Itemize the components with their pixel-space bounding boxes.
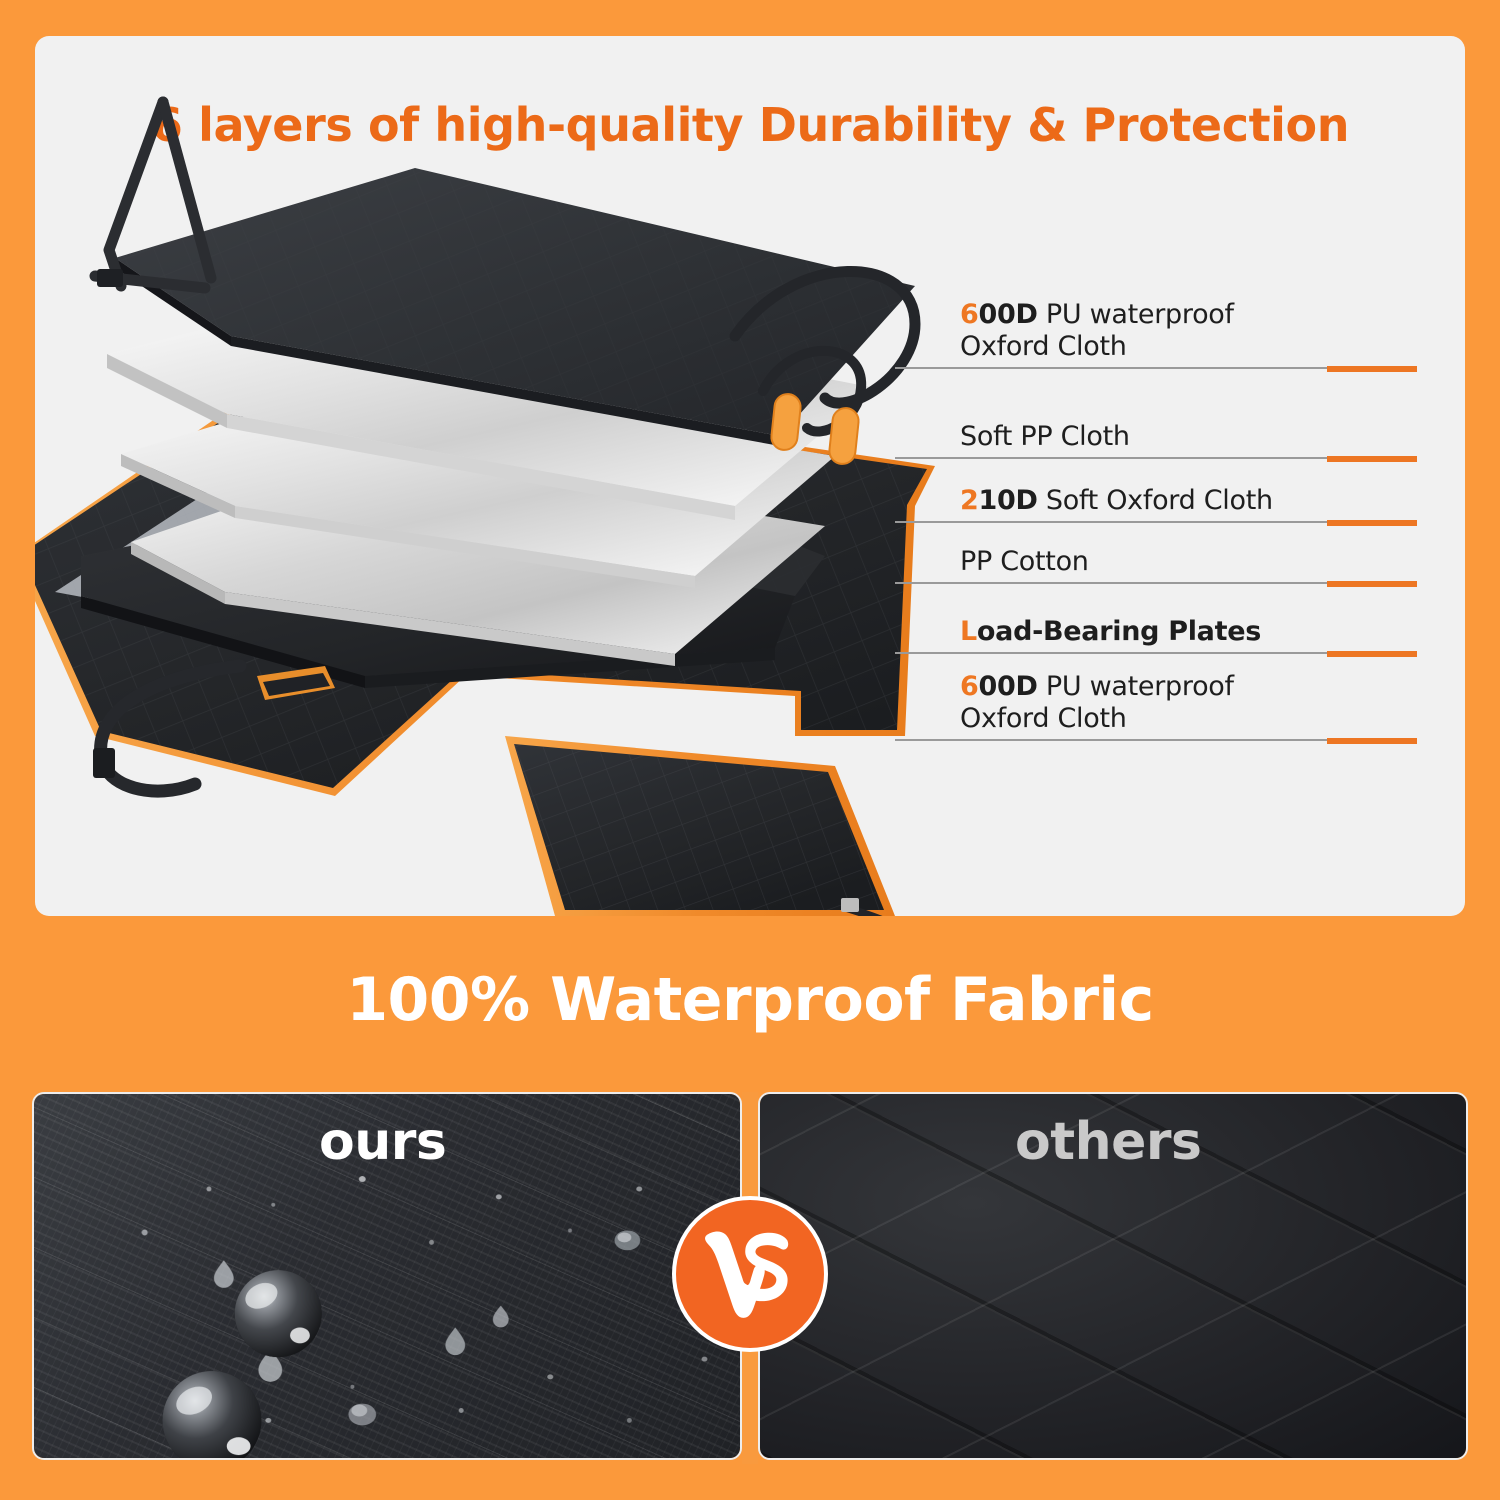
- callout-tail-4: oad-Bearing Plates: [977, 616, 1261, 647]
- callout-lead-0: 6: [960, 299, 979, 330]
- callout-rule-thin-4: [895, 652, 1335, 654]
- callout-lead-5: 6: [960, 671, 979, 702]
- banner-title: 100% Waterproof Fabric: [346, 965, 1153, 1035]
- callout-rule-2: [895, 520, 1455, 523]
- comparison-panel-others: others: [758, 1092, 1468, 1460]
- callout-line2-5: Oxford Cloth: [960, 703, 1127, 734]
- callout-rule-3: [895, 581, 1455, 584]
- strap-buckle-left: [93, 748, 115, 778]
- callout-rest-0: 00D: [979, 299, 1038, 330]
- callout-text-0: 600D PU waterproof Oxford Cloth: [960, 299, 1430, 363]
- callout-5: 600D PU waterproof Oxford Cloth: [895, 671, 1455, 741]
- vs-badge: [672, 1196, 828, 1352]
- callout-rule-4: [895, 651, 1455, 654]
- callout-text-5: 600D PU waterproof Oxford Cloth: [960, 671, 1430, 735]
- callout-rule-tip-4: [1327, 651, 1417, 657]
- callout-tail-5: PU waterproof: [1038, 671, 1234, 702]
- callout-rule-tip-2: [1327, 520, 1417, 526]
- callout-rule-thin-5: [895, 739, 1335, 741]
- callout-rule-0: [895, 366, 1455, 369]
- callout-tail-3: PP Cotton: [960, 546, 1089, 577]
- front-flap: [505, 736, 895, 916]
- others-label: others: [1015, 1112, 1201, 1172]
- callout-4: Load-Bearing Plates: [895, 608, 1455, 654]
- comparison-panel-ours: ours: [32, 1092, 742, 1460]
- callout-text-3: PP Cotton: [960, 546, 1430, 578]
- callout-rule-5: [895, 738, 1455, 741]
- callout-1: Soft PP Cloth: [895, 419, 1455, 459]
- vs-icon: [694, 1218, 806, 1330]
- callout-lead-2: 2: [960, 485, 979, 516]
- callout-rule-thin-1: [895, 457, 1335, 459]
- callout-text-1: Soft PP Cloth: [960, 421, 1430, 453]
- callout-tail-0: PU waterproof: [1038, 299, 1234, 330]
- hero-card: 6 layers of high-quality Durability & Pr…: [35, 36, 1465, 916]
- callout-rule-1: [895, 456, 1455, 459]
- infographic-page: 6 layers of high-quality Durability & Pr…: [0, 0, 1500, 1500]
- callout-rest-5: 00D: [979, 671, 1038, 702]
- large-droplet-1: [235, 1270, 322, 1357]
- large-droplet-2: [162, 1371, 261, 1458]
- callout-0: 600D PU waterproof Oxford Cloth: [895, 299, 1455, 369]
- callout-rule-tip-0: [1327, 366, 1417, 372]
- waterproof-banner: 100% Waterproof Fabric: [0, 930, 1500, 1070]
- callout-tail-1: Soft PP Cloth: [960, 421, 1130, 452]
- callout-2: 210D Soft Oxford Cloth: [895, 479, 1455, 523]
- callout-rule-thin-3: [895, 582, 1335, 584]
- callout-tail-2: Soft Oxford Cloth: [1038, 485, 1273, 516]
- callout-rule-thin-0: [895, 367, 1335, 369]
- strap-buckle-top: [97, 269, 123, 287]
- callout-text-2: 210D Soft Oxford Cloth: [960, 485, 1430, 517]
- callout-text-4: Load-Bearing Plates: [960, 616, 1430, 648]
- callout-rule-tip-5: [1327, 738, 1417, 744]
- callout-lead-4: L: [960, 616, 977, 647]
- callout-rule-tip-3: [1327, 581, 1417, 587]
- callout-line2-0: Oxford Cloth: [960, 331, 1127, 362]
- callout-3: PP Cotton: [895, 544, 1455, 584]
- callout-rule-tip-1: [1327, 456, 1417, 462]
- callout-rule-thin-2: [895, 521, 1335, 523]
- ours-label: ours: [319, 1112, 446, 1172]
- callout-rest-2: 10D: [979, 485, 1038, 516]
- layer-callout-list: 600D PU waterproof Oxford Cloth Soft PP …: [895, 221, 1455, 871]
